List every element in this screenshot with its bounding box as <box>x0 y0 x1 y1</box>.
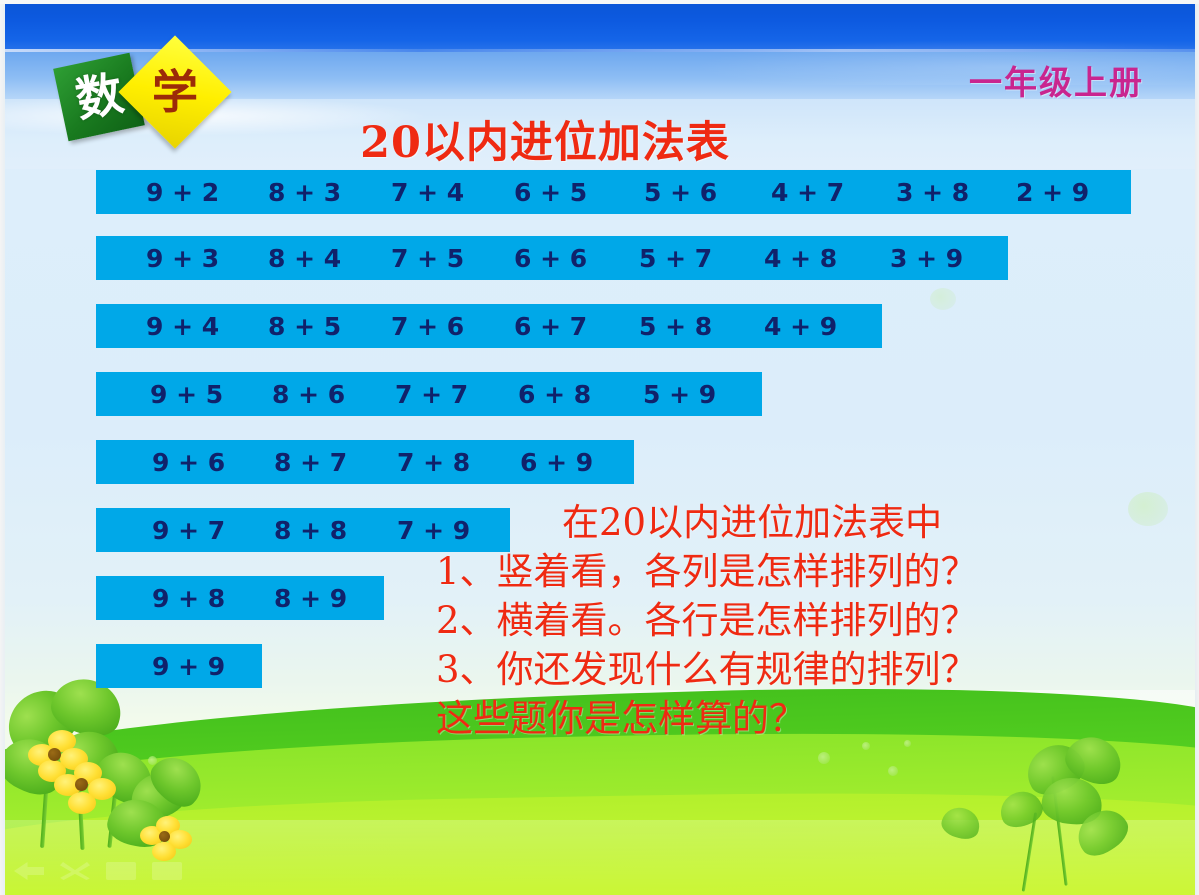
addition-cell: 9 + 8 <box>152 584 225 613</box>
addition-cell: 5 + 8 <box>639 312 712 341</box>
flower <box>54 762 120 820</box>
question-line-3: 3、你还发现什么有规律的排列？ <box>436 645 1136 694</box>
addition-cell: 9 + 9 <box>152 652 225 681</box>
table-row: 9 + 5 8 + 6 7 + 7 6 + 8 5 + 9 <box>96 372 762 416</box>
addition-cell: 9 + 5 <box>150 380 223 409</box>
addition-cell: 4 + 8 <box>764 244 837 273</box>
addition-cell: 6 + 7 <box>514 312 587 341</box>
addition-cell: 5 + 6 <box>644 178 717 207</box>
addition-cell: 7 + 4 <box>391 178 464 207</box>
addition-cell: 8 + 8 <box>274 516 347 545</box>
sparkle <box>930 288 956 310</box>
window-icon <box>152 862 182 880</box>
addition-cell: 2 + 9 <box>1016 178 1089 207</box>
addition-cell: 8 + 9 <box>274 584 347 613</box>
flower-center <box>75 778 88 791</box>
frame-right-edge <box>1195 0 1199 895</box>
addition-cell: 9 + 6 <box>152 448 225 477</box>
addition-cell: 5 + 9 <box>643 380 716 409</box>
menu-icon <box>106 862 136 880</box>
sparkle <box>818 752 830 764</box>
frame-top-edge <box>0 0 1199 4</box>
addition-cell: 3 + 8 <box>896 178 969 207</box>
grade-label: 一年级上册 <box>969 56 1144 104</box>
addition-cell: 7 + 6 <box>391 312 464 341</box>
addition-cell: 9 + 3 <box>146 244 219 273</box>
addition-cell: 3 + 9 <box>890 244 963 273</box>
addition-cell: 9 + 4 <box>146 312 219 341</box>
back-arrow-icon <box>14 862 44 880</box>
table-row: 9 + 2 8 + 3 7 + 4 6 + 5 5 + 6 4 + 7 3 + … <box>96 170 1131 214</box>
flower-center <box>48 748 61 761</box>
addition-cell: 7 + 7 <box>395 380 468 409</box>
frame-left-edge <box>0 0 5 895</box>
addition-cell: 6 + 6 <box>514 244 587 273</box>
flower-petal <box>152 842 176 861</box>
table-row: 9 + 4 8 + 5 7 + 6 6 + 7 5 + 8 4 + 9 <box>96 304 882 348</box>
addition-cell: 4 + 7 <box>771 178 844 207</box>
addition-cell: 8 + 5 <box>268 312 341 341</box>
addition-cell: 8 + 3 <box>268 178 341 207</box>
sparkle <box>148 756 157 765</box>
addition-cell: 8 + 4 <box>268 244 341 273</box>
sparkle <box>888 766 898 776</box>
addition-cell: 9 + 2 <box>146 178 219 207</box>
table-row: 9 + 3 8 + 4 7 + 5 6 + 6 5 + 7 4 + 8 3 + … <box>96 236 1008 280</box>
table-row: 9 + 6 8 + 7 7 + 8 6 + 9 <box>96 440 634 484</box>
addition-cell: 6 + 8 <box>518 380 591 409</box>
clover-cluster-right <box>980 720 1199 895</box>
flower <box>140 816 196 866</box>
question-block: 在20以内进位加法表中 1、竖着看，各列是怎样排列的？ 2、横着看。各行是怎样排… <box>436 498 1136 743</box>
question-heading: 在20以内进位加法表中 <box>436 498 1136 547</box>
flower-center <box>159 831 170 842</box>
question-line-1: 1、竖着看，各列是怎样排列的？ <box>436 547 1136 596</box>
close-icon <box>60 862 90 880</box>
addition-cell: 5 + 7 <box>639 244 712 273</box>
table-row: 9 + 8 8 + 9 <box>96 576 384 620</box>
page-title: 20以内进位加法表 <box>0 108 1090 170</box>
addition-cell: 8 + 7 <box>274 448 347 477</box>
addition-cell: 6 + 5 <box>514 178 587 207</box>
addition-cell: 8 + 6 <box>272 380 345 409</box>
question-line-2: 2、横着看。各行是怎样排列的？ <box>436 596 1136 645</box>
addition-cell: 7 + 8 <box>397 448 470 477</box>
question-line-4: 这些题你是怎样算的？ <box>436 694 1136 743</box>
watermark-icon-row <box>14 862 182 880</box>
table-row: 9 + 9 <box>96 644 262 688</box>
addition-cell: 7 + 5 <box>391 244 464 273</box>
addition-cell: 4 + 9 <box>764 312 837 341</box>
addition-cell: 6 + 9 <box>520 448 593 477</box>
addition-cell: 9 + 7 <box>152 516 225 545</box>
sparkle <box>862 742 870 750</box>
flower-petal <box>68 792 96 814</box>
slide-canvas: 数 学 一年级上册 20以内进位加法表 9 + 2 8 + 3 7 + 4 6 … <box>0 0 1199 895</box>
